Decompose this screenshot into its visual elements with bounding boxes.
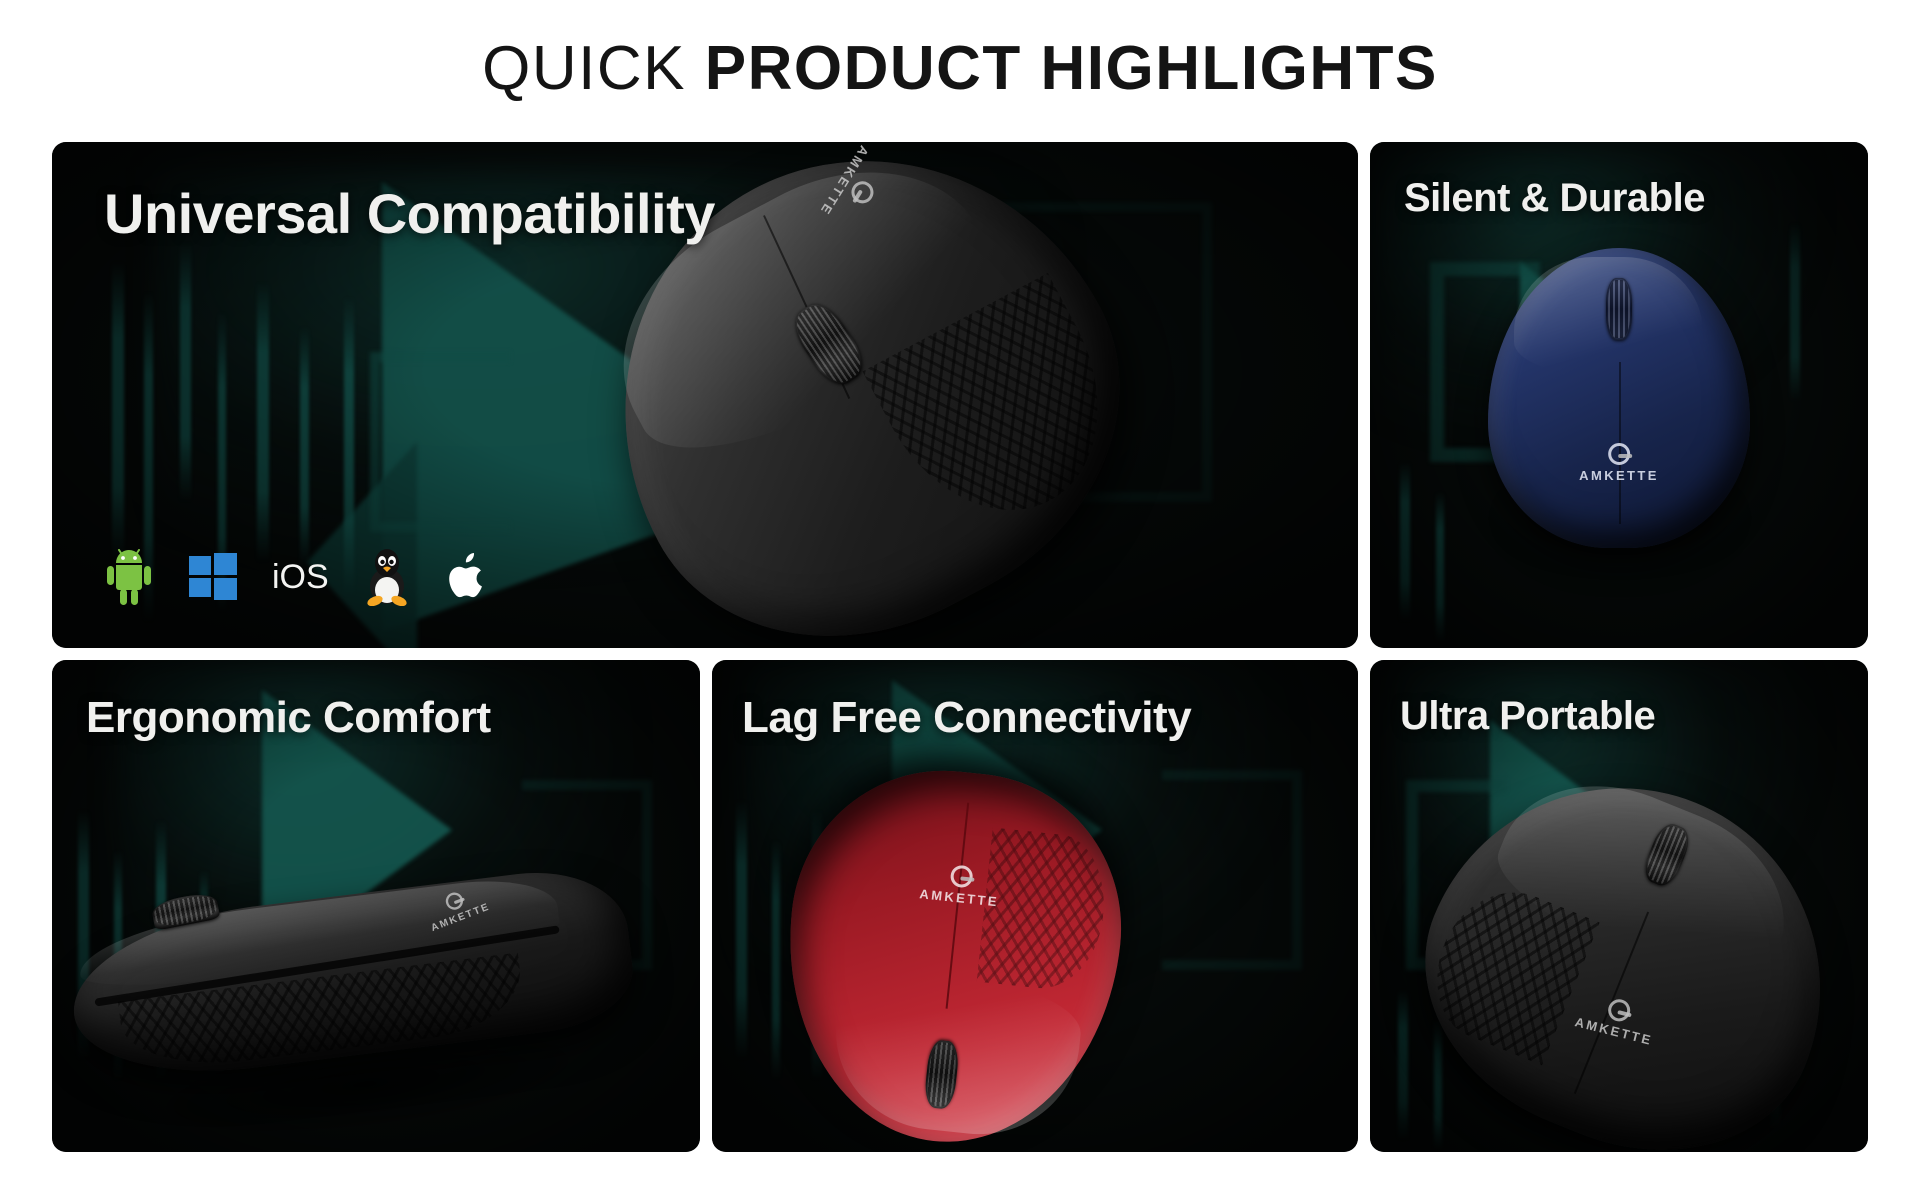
card-heading-ultra-portable: Ultra Portable bbox=[1400, 696, 1655, 736]
amkette-swoosh-icon bbox=[949, 865, 973, 889]
product-image-mouse-blue: AMKETTE bbox=[1488, 248, 1750, 548]
page-title: QUICK PRODUCT HIGHLIGHTS bbox=[0, 38, 1920, 100]
card-silent-durable: Silent & Durable AMKETTE bbox=[1370, 142, 1868, 648]
brand-wordmark: AMKETTE bbox=[1579, 468, 1659, 483]
product-highlights-banner: QUICK PRODUCT HIGHLIGHTS bbox=[0, 0, 1920, 1194]
page-title-light: QUICK bbox=[482, 34, 705, 103]
brand-logo: AMKETTE bbox=[1579, 443, 1659, 483]
amkette-swoosh-icon bbox=[1608, 443, 1630, 465]
amkette-swoosh-icon bbox=[1606, 997, 1633, 1024]
android-icon bbox=[104, 549, 154, 605]
apple-icon bbox=[445, 550, 491, 604]
product-image-mouse-red: AMKETTE bbox=[770, 756, 1137, 1152]
card-ultra-portable: Ultra Portable AMKETTE bbox=[1370, 660, 1868, 1152]
card-lag-free-connectivity: Lag Free Connectivity AMKETTE bbox=[712, 660, 1358, 1152]
card-heading-lag-free-connectivity: Lag Free Connectivity bbox=[742, 696, 1191, 740]
card-heading-silent-durable: Silent & Durable bbox=[1404, 178, 1705, 218]
page-title-bold: PRODUCT HIGHLIGHTS bbox=[705, 34, 1438, 103]
card-ergonomic-comfort: Ergonomic Comfort AMKETTE bbox=[52, 660, 700, 1152]
os-compatibility-list: iOS bbox=[104, 548, 491, 606]
card-universal-compatibility: Universal Compatibility AMKETTE bbox=[52, 142, 1358, 648]
card-heading-universal-compatibility: Universal Compatibility bbox=[104, 186, 715, 242]
ios-text-icon: iOS bbox=[272, 558, 329, 597]
windows-icon bbox=[188, 552, 238, 602]
highlights-grid: Universal Compatibility AMKETTE bbox=[52, 142, 1868, 1152]
card-heading-ergonomic-comfort: Ergonomic Comfort bbox=[86, 696, 491, 740]
linux-tux-icon bbox=[363, 548, 411, 606]
brand-logo: AMKETTE bbox=[919, 862, 1002, 910]
